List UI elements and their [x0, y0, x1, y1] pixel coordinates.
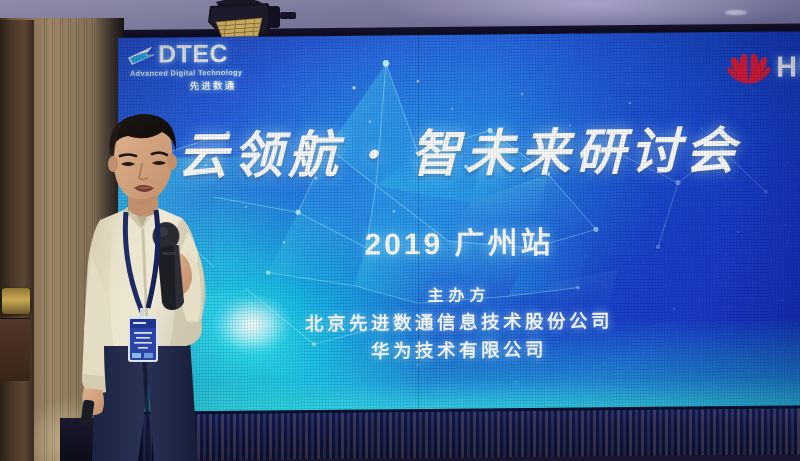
presenter-clicker — [80, 399, 95, 426]
door-panel — [0, 318, 30, 381]
conference-photo: DTEC Advanced Digital Technology 先进数通 — [0, 0, 800, 461]
badge — [128, 316, 158, 362]
door[interactable] — [0, 20, 34, 461]
speaker-person — [62, 112, 242, 461]
ceiling-fixture-dot — [725, 10, 747, 15]
door-handle-icon[interactable] — [2, 288, 30, 314]
